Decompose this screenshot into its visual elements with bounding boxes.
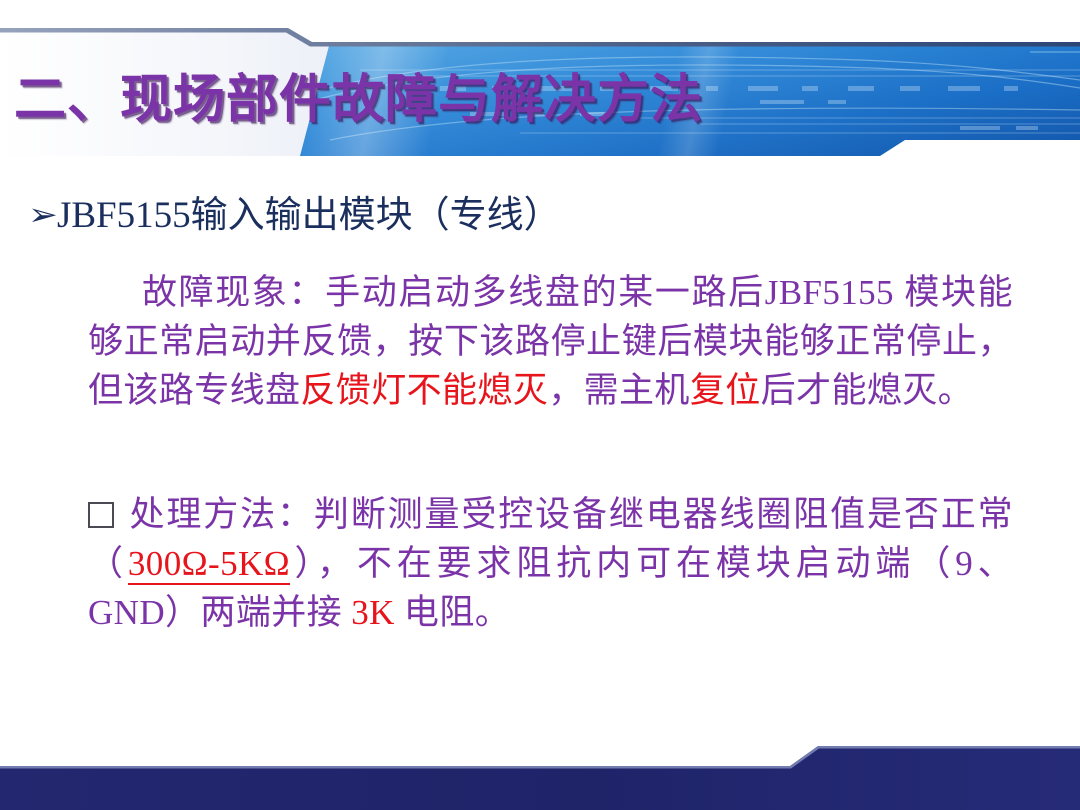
footer-decoration <box>0 720 1080 810</box>
empty-checkbox-icon <box>88 502 114 528</box>
fault-text-part-3: 后才能熄灭。 <box>761 371 973 410</box>
slide-body: ➢JBF5155输入输出模块（专线） 故障现象：手动启动多线盘的某一路后JBF5… <box>0 172 1080 732</box>
footer-graphic <box>0 720 1080 810</box>
solution-text-part-3: 电阻。 <box>395 593 510 632</box>
fault-description-paragraph: 故障现象：手动启动多线盘的某一路后JBF5155 模块能够正常启动并反馈，按下该… <box>88 268 1013 415</box>
solution-highlight-3k: 3K <box>351 593 395 632</box>
solution-highlight-resistance: 300Ω-5KΩ <box>128 544 290 585</box>
fault-highlight-2: 复位 <box>690 371 761 410</box>
fault-highlight-1: 反馈灯不能熄灭 <box>300 371 548 410</box>
slide-root: 二、现场部件故障与解决方法 ➢JBF5155输入输出模块（专线） 故障现象：手动… <box>0 0 1080 810</box>
bullet-heading: ➢JBF5155输入输出模块（专线） <box>30 184 561 238</box>
fault-text-part-2: ，需主机 <box>548 371 690 410</box>
bullet-heading-text: JBF5155输入输出模块（专线） <box>57 195 561 236</box>
title-banner: 二、现场部件故障与解决方法 <box>0 0 1080 172</box>
solution-paragraph: 处理方法：判断测量受控设备继电器线圈阻值是否正常（300Ω-5KΩ），不在要求阻… <box>88 490 1013 637</box>
page-title: 二、现场部件故障与解决方法 <box>14 62 914 138</box>
arrow-bullet-icon: ➢ <box>28 197 58 233</box>
